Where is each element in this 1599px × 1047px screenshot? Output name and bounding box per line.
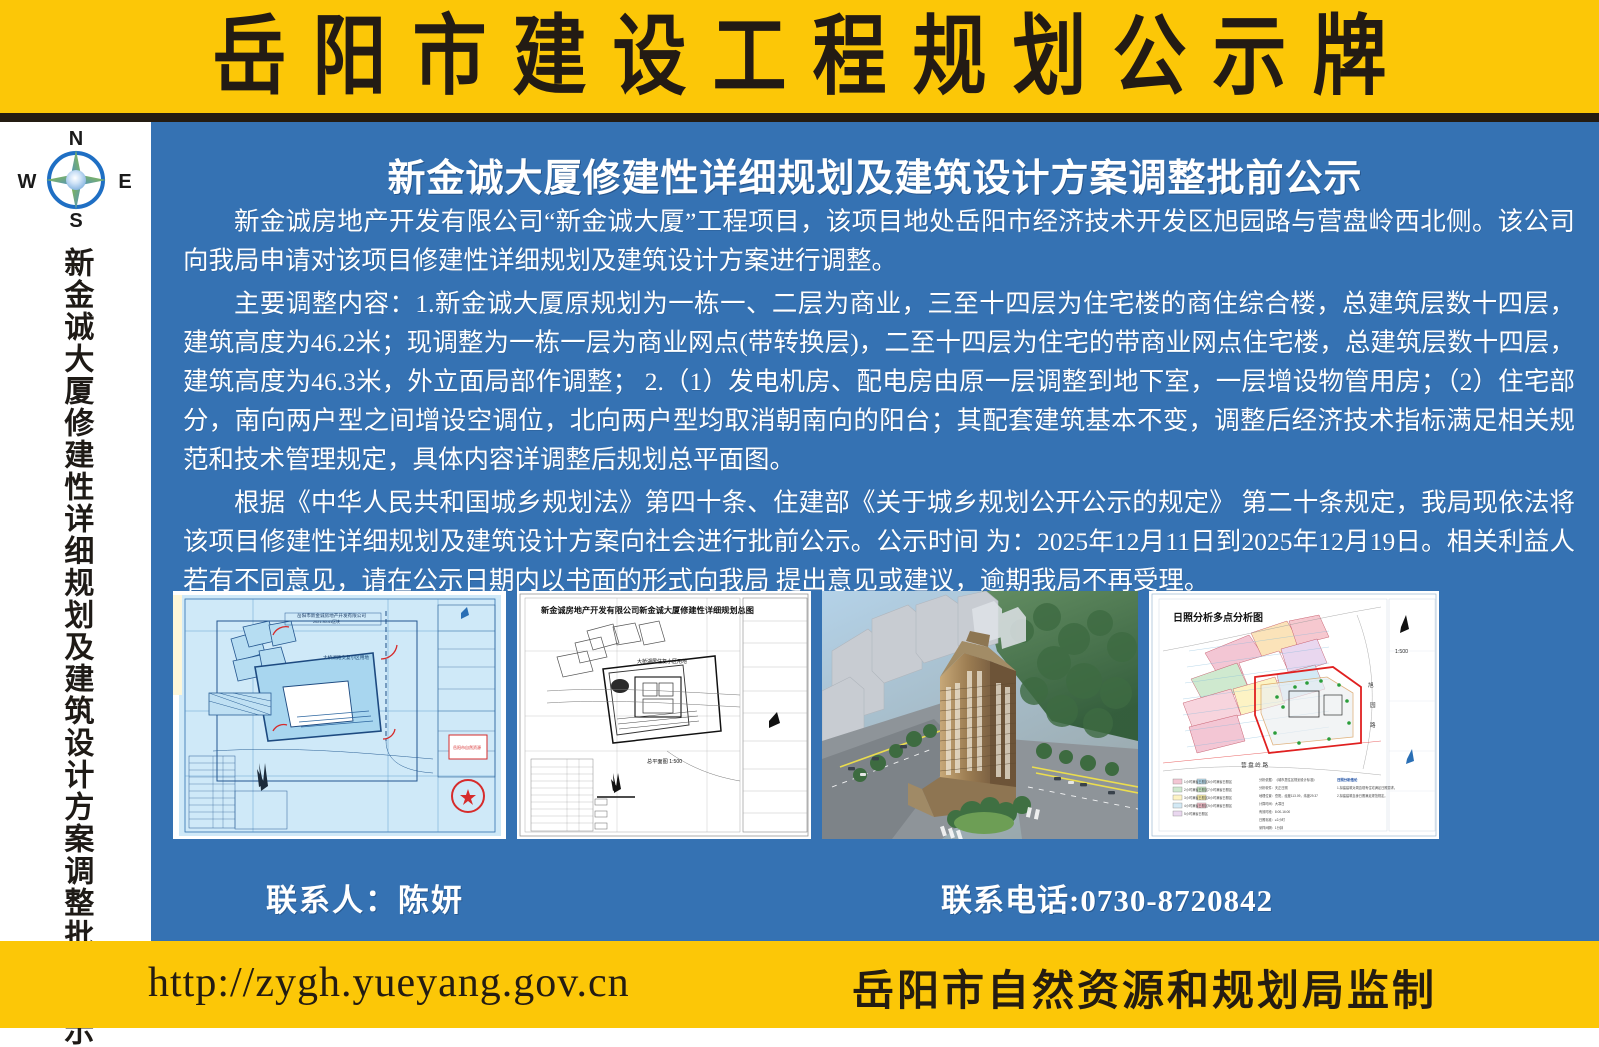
svg-text:分析依据：《城市居住区规划设计标准》: 分析依据：《城市居住区规划设计标准》	[1259, 777, 1316, 782]
banner-divider	[0, 113, 1599, 122]
svg-text:9小时满窗日照区: 9小时满窗日照区	[1208, 803, 1233, 808]
compass-south-label: S	[69, 210, 82, 230]
svg-text:园: 园	[1370, 702, 1376, 709]
svg-text:旭: 旭	[1368, 681, 1374, 689]
thumb1-inner-label: 大桥湖路交复小区用地	[323, 654, 369, 661]
footer-organization: 岳阳市自然资源和规划局监制	[852, 957, 1437, 1018]
svg-text:有效时段：8:00-16:00: 有效时段：8:00-16:00	[1259, 809, 1290, 814]
compass-east-label: E	[118, 171, 131, 193]
svg-text:1.拟建建筑对周边现有住宅满足日照要求。: 1.拟建建筑对周边现有住宅满足日照要求。	[1337, 785, 1397, 790]
compass-rose-icon: N S W E	[14, 130, 138, 230]
contact-phone: 联系电话:0730-8720842	[941, 875, 1273, 920]
thumb2-caption: 新金诚房地产开发有限公司新金诚大厦修建性详细规划总图	[541, 605, 754, 615]
thumb-cadastral-site-plan[interactable]: 岳阳市新金诚房地产开发有限公司 2021.30-41区块 大桥湖路交复小区用地	[173, 591, 506, 839]
svg-text:4小时满窗日照区: 4小时满窗日照区	[1184, 803, 1209, 808]
svg-text:地理位置：岳阳，经度113.09，纬度29.37: 地理位置：岳阳，经度113.09，纬度29.37	[1259, 793, 1318, 798]
svg-text:分析软件：天正日照: 分析软件：天正日照	[1259, 785, 1288, 790]
svg-text:5小时满窗日照区: 5小时满窗日照区	[1184, 811, 1209, 816]
thumb-sunlight-analysis[interactable]: 日照分析多点分析图	[1149, 591, 1439, 839]
sidebar-vertical-title-text: 新金诚大厦修建性详细规划及建筑设计方案调整批前公示	[60, 247, 92, 937]
footer-website-url[interactable]: http://zygh.yueyang.gov.cn	[148, 959, 630, 1007]
drawing-gallery: 岳阳市新金诚房地产开发有限公司 2021.30-41区块 大桥湖路交复小区用地	[173, 591, 1577, 839]
notice-paragraph-2: 主要调整内容：1.新金诚大厦原规划为一栋一、二层为商业，三至十四层为住宅楼的商住…	[183, 284, 1575, 479]
thumb-aerial-rendering[interactable]	[822, 591, 1138, 839]
svg-text:日照标准：≥2小时: 日照标准：≥2小时	[1259, 817, 1286, 822]
svg-text:路: 路	[1370, 721, 1376, 729]
compass-north-label: N	[69, 130, 83, 150]
thumb-detailed-regulatory-plan[interactable]: 新金诚房地产开发有限公司新金诚大厦修建性详细规划总图	[517, 591, 811, 839]
notice-headline: 新金诚大厦修建性详细规划及建筑设计方案调整批前公示	[151, 147, 1599, 202]
svg-text:2.拟建建筑自身日照满足规范规定。: 2.拟建建筑自身日照满足规范规定。	[1337, 793, 1387, 798]
svg-text:2021.30-41区块: 2021.30-41区块	[313, 619, 340, 624]
notice-paragraph-1: 新金诚房地产开发有限公司“新金诚大厦”工程项目，该项目地处岳阳市经济技术开发区旭…	[183, 202, 1575, 280]
svg-text:计算时间：大寒日: 计算时间：大寒日	[1259, 801, 1285, 806]
header-banner: 岳阳市建设工程规划公示牌	[0, 0, 1599, 113]
svg-text:岳阳市自然资源: 岳阳市自然资源	[453, 744, 481, 750]
contact-person: 联系人：陈妍	[266, 875, 464, 920]
svg-text:日照分析结论: 日照分析结论	[1337, 777, 1358, 782]
notice-paragraph-3: 根据《中华人民共和国城乡规划法》第四十条、住建部《关于城乡规划公开公示的规定》 …	[183, 483, 1575, 600]
compass-west-label: W	[18, 171, 37, 193]
svg-text:采样间隔：1分钟: 采样间隔：1分钟	[1259, 825, 1283, 830]
footer-banner: http://zygh.yueyang.gov.cn 岳阳市自然资源和规划局监制	[0, 941, 1599, 1028]
thumb2-inner-label: 大桥湖居住复小区用地	[637, 658, 687, 665]
svg-text:3小时满窗日照区: 3小时满窗日照区	[1184, 795, 1209, 800]
svg-text:营 盘 岭 路: 营 盘 岭 路	[1241, 761, 1268, 769]
svg-text:8小时满窗日照区: 8小时满窗日照区	[1208, 795, 1233, 800]
thumb4-caption: 日照分析多点分析图	[1173, 611, 1263, 624]
thumb2-scale-label: 总平面图 1:500	[647, 757, 682, 765]
thumb4-scale-label: 1:500	[1395, 649, 1408, 655]
svg-text:1小时满窗日照区: 1小时满窗日照区	[1184, 779, 1209, 784]
svg-text:2小时满窗日照区: 2小时满窗日照区	[1184, 787, 1209, 792]
notice-body: 新金诚房地产开发有限公司“新金诚大厦”工程项目，该项目地处岳阳市经济技术开发区旭…	[183, 202, 1575, 604]
page-title: 岳阳市建设工程规划公示牌	[187, 13, 1413, 100]
left-sidebar: N S W E 新金诚大厦修建性详细规划及建筑设计方案调整批前公示	[0, 122, 151, 941]
svg-text:6小时满窗日照区: 6小时满窗日照区	[1208, 779, 1233, 784]
sidebar-vertical-title: 新金诚大厦修建性详细规划及建筑设计方案调整批前公示	[0, 247, 151, 937]
contact-row: 联系人：陈妍 联系电话:0730-8720842	[151, 867, 1599, 929]
main-blue-panel: 新金诚大厦修建性详细规划及建筑设计方案调整批前公示 新金诚房地产开发有限公司“新…	[151, 122, 1599, 941]
svg-text:7小时满窗日照区: 7小时满窗日照区	[1208, 787, 1233, 792]
publicity-board: 岳阳市建设工程规划公示牌	[0, 0, 1599, 1028]
